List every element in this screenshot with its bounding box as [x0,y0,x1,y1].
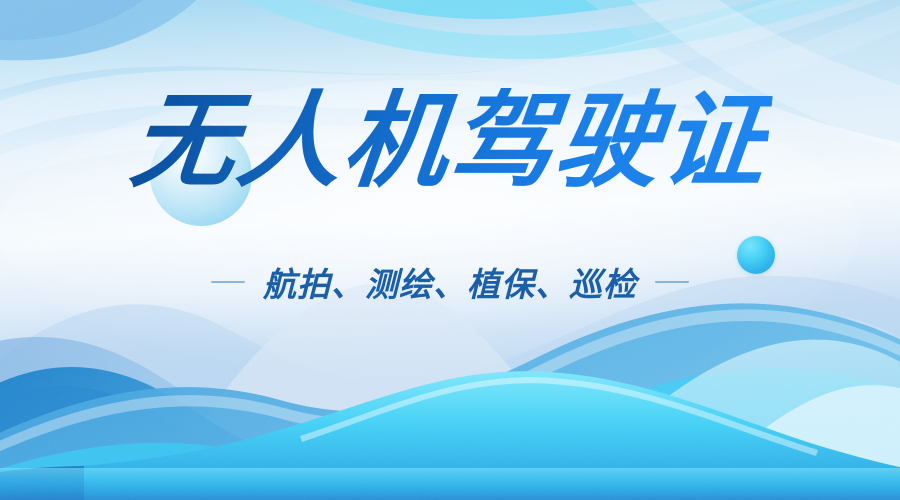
page-title: 无人机驾驶证 [126,86,774,196]
subtitle-text: 航拍、测绘、植保、巡检 [263,258,637,306]
rule-left [211,281,245,283]
subtitle-row: 航拍、测绘、植保、巡检 [0,258,900,306]
banner-content: 无人机驾驶证 航拍、测绘、植保、巡检 [0,0,900,500]
banner: 无人机驾驶证 航拍、测绘、植保、巡检 [0,0,900,500]
rule-right [655,281,689,283]
headline-wrap: 无人机驾驶证 [0,86,900,196]
